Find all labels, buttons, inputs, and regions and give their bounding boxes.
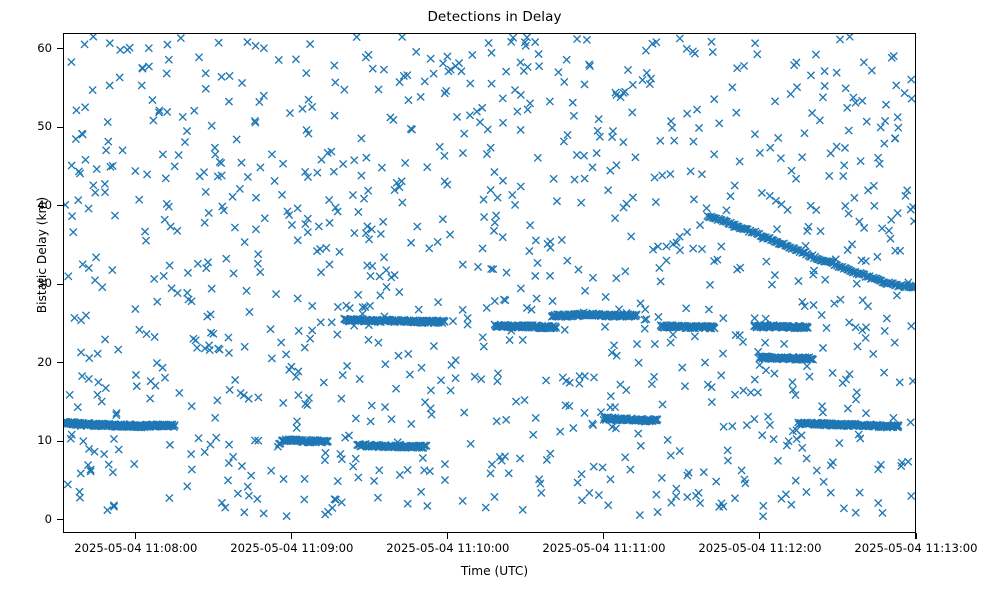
scatter-marker <box>159 364 166 371</box>
scatter-marker <box>483 151 490 158</box>
scatter-marker <box>368 402 375 409</box>
scatter-marker <box>391 271 398 278</box>
scatter-marker <box>663 243 670 250</box>
scatter-marker <box>358 135 365 142</box>
scatter-marker <box>664 436 671 443</box>
scatter-marker <box>72 135 79 142</box>
scatter-marker <box>904 187 911 194</box>
scatter-marker <box>283 351 290 358</box>
scatter-marker <box>461 409 468 416</box>
scatter-marker <box>550 175 557 182</box>
scatter-marker <box>709 48 716 55</box>
scatter-marker <box>427 55 434 62</box>
scatter-marker <box>164 108 171 115</box>
scatter-marker <box>607 167 614 174</box>
scatter-marker <box>229 193 236 200</box>
scatter-marker <box>760 502 767 509</box>
scatter-marker <box>734 65 741 72</box>
scatter-marker <box>637 442 644 449</box>
y-tick-label: 10 <box>0 433 52 447</box>
scatter-marker <box>775 134 782 141</box>
scatter-marker <box>418 364 425 371</box>
scatter-marker <box>352 455 359 462</box>
scatter-marker <box>739 338 746 345</box>
scatter-marker <box>881 327 888 334</box>
scatter-marker <box>376 273 383 280</box>
scatter-marker <box>877 124 884 131</box>
scatter-marker <box>870 350 877 357</box>
scatter-marker <box>620 139 627 146</box>
scatter-marker <box>421 467 428 474</box>
scatter-marker <box>731 391 738 398</box>
scatter-marker <box>788 501 795 508</box>
scatter-marker <box>536 63 543 70</box>
scatter-marker <box>377 230 384 237</box>
scatter-marker <box>271 177 278 184</box>
scatter-marker <box>703 205 710 212</box>
scatter-marker <box>857 158 864 165</box>
scatter-marker <box>807 72 814 79</box>
scatter-marker <box>208 285 215 292</box>
scatter-marker <box>836 439 843 446</box>
scatter-marker <box>538 489 545 496</box>
scatter-marker <box>822 276 829 283</box>
scatter-marker <box>599 464 606 471</box>
scatter-marker <box>656 264 663 271</box>
scatter-marker <box>766 192 773 199</box>
scatter-marker <box>511 201 518 208</box>
scatter-marker <box>642 306 649 313</box>
scatter-marker <box>708 384 715 391</box>
scatter-marker <box>301 496 308 503</box>
scatter-marker <box>676 247 683 254</box>
scatter-marker <box>73 107 80 114</box>
scatter-marker <box>651 373 658 380</box>
scatter-marker <box>399 34 406 41</box>
scatter-marker <box>711 96 718 103</box>
scatter-marker <box>821 68 828 75</box>
scatter-marker <box>185 296 192 303</box>
scatter-marker <box>202 188 209 195</box>
scatter-marker <box>75 197 82 204</box>
scatter-marker <box>268 151 275 158</box>
scatter-marker <box>139 65 146 72</box>
scatter-marker <box>193 344 200 351</box>
scatter-marker <box>692 492 699 499</box>
scatter-marker <box>881 140 888 147</box>
scatter-marker <box>86 355 93 362</box>
scatter-marker <box>789 379 796 386</box>
scatter-marker <box>446 231 453 238</box>
scatter-marker <box>181 139 188 146</box>
scatter-marker <box>535 50 542 57</box>
x-tick-label: 2025-05-04 11:12:00 <box>680 541 840 555</box>
scatter-marker <box>117 46 124 53</box>
scatter-marker <box>447 387 454 394</box>
scatter-marker <box>338 456 345 463</box>
scatter-marker <box>845 127 852 134</box>
scatter-marker <box>527 222 534 229</box>
scatter-marker <box>676 35 683 42</box>
scatter-marker <box>590 374 597 381</box>
scatter-marker <box>89 86 96 93</box>
x-tick-label: 2025-05-04 11:08:00 <box>56 541 216 555</box>
scatter-marker <box>862 258 869 265</box>
scatter-marker <box>683 305 690 312</box>
scatter-marker <box>99 284 106 291</box>
scatter-marker <box>369 65 376 72</box>
scatter-marker <box>439 216 446 223</box>
scatter-marker <box>485 39 492 46</box>
scatter-marker <box>458 68 465 75</box>
scatter-marker <box>115 446 122 453</box>
scatter-marker <box>738 467 745 474</box>
scatter-marker <box>494 378 501 385</box>
scatter-marker <box>818 311 825 318</box>
scatter-marker <box>303 70 310 77</box>
scatter-marker <box>252 226 259 233</box>
scatter-marker <box>150 117 157 124</box>
scatter-marker <box>280 475 287 482</box>
scatter-marker <box>733 109 740 116</box>
scatter-marker <box>254 260 261 267</box>
scatter-marker <box>167 223 174 230</box>
x-tick-mark <box>603 533 604 539</box>
scatter-marker <box>852 324 859 331</box>
scatter-marker <box>679 364 686 371</box>
scatter-marker <box>768 281 775 288</box>
scatter-marker <box>81 41 88 48</box>
scatter-marker <box>163 70 170 77</box>
scatter-marker <box>636 511 643 518</box>
scatter-marker <box>214 397 221 404</box>
scatter-marker <box>589 164 596 171</box>
scatter-marker <box>505 470 512 477</box>
scatter-marker <box>292 56 299 63</box>
scatter-marker <box>676 447 683 454</box>
y-tick-label: 0 <box>0 512 52 526</box>
scatter-marker <box>698 171 705 178</box>
scatter-marker <box>573 151 580 158</box>
chart-title: Detections in Delay <box>0 9 989 25</box>
scatter-marker <box>109 267 116 274</box>
scatter-marker <box>188 466 195 473</box>
scatter-marker <box>493 212 500 219</box>
scatter-marker <box>859 97 866 104</box>
scatter-marker <box>260 45 267 52</box>
scatter-marker <box>708 38 715 45</box>
scatter-marker <box>771 98 778 105</box>
scatter-marker <box>841 144 848 151</box>
scatter-marker <box>478 376 485 383</box>
scatter-points-layer <box>64 34 915 532</box>
scatter-marker <box>659 401 666 408</box>
scatter-marker <box>147 378 154 385</box>
scatter-marker <box>823 324 830 331</box>
scatter-marker <box>317 319 324 326</box>
scatter-marker <box>213 434 220 441</box>
scatter-marker <box>356 375 363 382</box>
scatter-marker <box>561 326 568 333</box>
scatter-marker <box>421 399 428 406</box>
scatter-marker <box>459 261 466 268</box>
scatter-marker <box>437 377 444 384</box>
scatter-marker <box>657 137 664 144</box>
scatter-marker <box>564 131 571 138</box>
scatter-marker <box>731 495 738 502</box>
scatter-marker <box>105 461 112 468</box>
scatter-marker <box>887 235 894 242</box>
scatter-marker <box>355 474 362 481</box>
scatter-marker <box>784 206 791 213</box>
scatter-marker <box>751 315 758 322</box>
x-tick-label: 2025-05-04 11:09:00 <box>212 541 372 555</box>
scatter-marker <box>273 291 280 298</box>
scatter-marker <box>435 299 442 306</box>
scatter-marker <box>841 162 848 169</box>
scatter-marker <box>848 241 855 248</box>
scatter-marker <box>891 339 898 346</box>
scatter-marker <box>810 301 817 308</box>
scatter-marker <box>415 306 422 313</box>
scatter-marker <box>851 194 858 201</box>
scatter-marker <box>309 103 316 110</box>
scatter-marker <box>261 215 268 222</box>
scatter-marker <box>727 193 734 200</box>
scatter-marker <box>842 85 849 92</box>
scatter-marker <box>499 119 506 126</box>
scatter-marker <box>426 245 433 252</box>
scatter-marker <box>346 305 353 312</box>
scatter-marker <box>92 189 99 196</box>
scatter-marker <box>752 40 759 47</box>
scatter-marker <box>441 461 448 468</box>
scatter-marker <box>363 154 370 161</box>
scatter-marker <box>175 152 182 159</box>
scatter-marker <box>905 458 912 465</box>
scatter-marker <box>546 272 553 279</box>
scatter-marker <box>436 143 443 150</box>
scatter-marker <box>464 321 471 328</box>
scatter-marker <box>331 112 338 119</box>
scatter-marker <box>659 172 666 179</box>
scatter-marker <box>663 257 670 264</box>
scatter-marker <box>549 297 556 304</box>
scatter-marker <box>580 152 587 159</box>
scatter-marker <box>743 422 750 429</box>
scatter-marker <box>829 459 836 466</box>
scatter-marker <box>430 342 437 349</box>
scatter-marker <box>260 510 267 517</box>
scatter-marker <box>793 84 800 91</box>
scatter-marker <box>667 452 674 459</box>
scatter-marker <box>332 79 339 86</box>
scatter-marker <box>225 459 232 466</box>
scatter-marker <box>136 196 143 203</box>
scatter-marker <box>164 41 171 48</box>
scatter-marker <box>334 303 341 310</box>
scatter-marker <box>119 147 126 154</box>
scatter-marker <box>246 308 253 315</box>
scatter-marker <box>853 280 860 287</box>
scatter-marker <box>494 194 501 201</box>
scatter-marker <box>483 304 490 311</box>
scatter-marker <box>613 275 620 282</box>
scatter-marker <box>320 379 327 386</box>
scatter-marker <box>861 224 868 231</box>
scatter-marker <box>453 113 460 120</box>
scatter-marker <box>408 420 415 427</box>
scatter-marker <box>337 450 344 457</box>
scatter-marker <box>480 343 487 350</box>
scatter-marker <box>408 239 415 246</box>
scatter-marker <box>546 98 553 105</box>
scatter-marker <box>68 213 75 220</box>
scatter-marker <box>301 344 308 351</box>
scatter-marker <box>131 460 138 467</box>
scatter-marker <box>637 300 644 307</box>
scatter-marker <box>908 76 915 83</box>
scatter-marker <box>654 508 661 515</box>
scatter-marker <box>762 315 769 322</box>
scatter-marker <box>874 154 881 161</box>
scatter-marker <box>132 371 139 378</box>
scatter-marker <box>406 371 413 378</box>
scatter-marker <box>819 94 826 101</box>
scatter-marker <box>517 126 524 133</box>
scatter-marker <box>341 86 348 93</box>
scatter-marker <box>396 288 403 295</box>
scatter-marker <box>484 126 491 133</box>
scatter-marker <box>560 138 567 145</box>
scatter-marker <box>629 109 636 116</box>
scatter-marker <box>464 314 471 321</box>
scatter-marker <box>691 50 698 57</box>
scatter-marker <box>188 451 195 458</box>
scatter-marker <box>85 205 92 212</box>
scatter-marker <box>424 164 431 171</box>
scatter-marker <box>643 69 650 76</box>
scatter-marker <box>362 54 369 61</box>
scatter-marker <box>132 305 139 312</box>
scatter-marker <box>383 267 390 274</box>
x-tick-mark <box>915 533 916 539</box>
scatter-marker <box>720 315 727 322</box>
scatter-marker <box>231 224 238 231</box>
scatter-marker <box>908 95 915 102</box>
scatter-marker <box>503 68 510 75</box>
x-tick-mark <box>291 533 292 539</box>
scatter-marker <box>441 152 448 159</box>
scatter-marker <box>260 92 267 99</box>
scatter-marker <box>617 381 624 388</box>
scatter-marker <box>695 124 702 131</box>
scatter-marker <box>724 457 731 464</box>
scatter-marker <box>729 84 736 91</box>
scatter-marker <box>71 314 78 321</box>
scatter-marker <box>777 155 784 162</box>
scatter-marker <box>831 300 838 307</box>
scatter-marker <box>758 189 765 196</box>
scatter-marker <box>737 264 744 271</box>
scatter-marker <box>365 187 372 194</box>
scatter-marker <box>754 389 761 396</box>
scatter-marker <box>183 127 190 134</box>
scatter-marker <box>211 144 218 151</box>
scatter-marker <box>374 494 381 501</box>
scatter-marker <box>241 343 248 350</box>
scatter-marker <box>153 359 160 366</box>
scatter-marker <box>520 67 527 74</box>
scatter-marker <box>430 70 437 77</box>
scatter-marker <box>581 81 588 88</box>
scatter-marker <box>339 160 346 167</box>
scatter-marker <box>819 344 826 351</box>
scatter-marker <box>179 113 186 120</box>
scatter-marker <box>304 229 311 236</box>
scatter-marker <box>836 36 843 43</box>
scatter-marker <box>646 81 653 88</box>
scatter-marker <box>244 483 251 490</box>
scatter-marker <box>236 185 243 192</box>
scatter-marker <box>813 467 820 474</box>
scatter-marker <box>576 373 583 380</box>
figure-canvas: Detections in Delay Bistatic Delay (km) … <box>0 0 989 590</box>
scatter-marker <box>449 318 456 325</box>
scatter-marker <box>382 361 389 368</box>
scatter-marker <box>399 199 406 206</box>
scatter-marker <box>885 227 892 234</box>
scatter-marker <box>225 98 232 105</box>
scatter-marker <box>883 315 890 322</box>
scatter-marker <box>897 247 904 254</box>
scatter-marker <box>115 346 122 353</box>
scatter-marker <box>142 237 149 244</box>
scatter-marker <box>295 392 302 399</box>
scatter-marker <box>110 503 117 510</box>
scatter-marker <box>771 370 778 377</box>
scatter-marker <box>90 182 97 189</box>
scatter-marker <box>605 187 612 194</box>
scatter-marker <box>881 369 888 376</box>
scatter-marker <box>534 259 541 266</box>
scatter-marker <box>791 62 798 69</box>
scatter-marker <box>581 409 588 416</box>
scatter-marker <box>581 175 588 182</box>
scatter-marker <box>698 245 705 252</box>
scatter-marker <box>803 363 810 370</box>
scatter-marker <box>141 228 148 235</box>
scatter-marker <box>611 215 618 222</box>
scatter-marker <box>77 470 84 477</box>
scatter-marker <box>813 206 820 213</box>
scatter-marker <box>770 436 777 443</box>
scatter-marker <box>252 194 259 201</box>
scatter-marker <box>195 54 202 61</box>
scatter-marker <box>896 379 903 386</box>
scatter-marker <box>288 363 295 370</box>
scatter-marker <box>503 416 510 423</box>
scatter-marker <box>138 82 145 89</box>
scatter-marker <box>681 383 688 390</box>
scatter-marker <box>908 323 915 330</box>
scatter-marker <box>635 359 642 366</box>
scatter-marker <box>275 56 282 63</box>
scatter-marker <box>817 228 824 235</box>
scatter-marker <box>856 218 863 225</box>
scatter-marker <box>690 138 697 145</box>
scatter-marker <box>254 495 261 502</box>
